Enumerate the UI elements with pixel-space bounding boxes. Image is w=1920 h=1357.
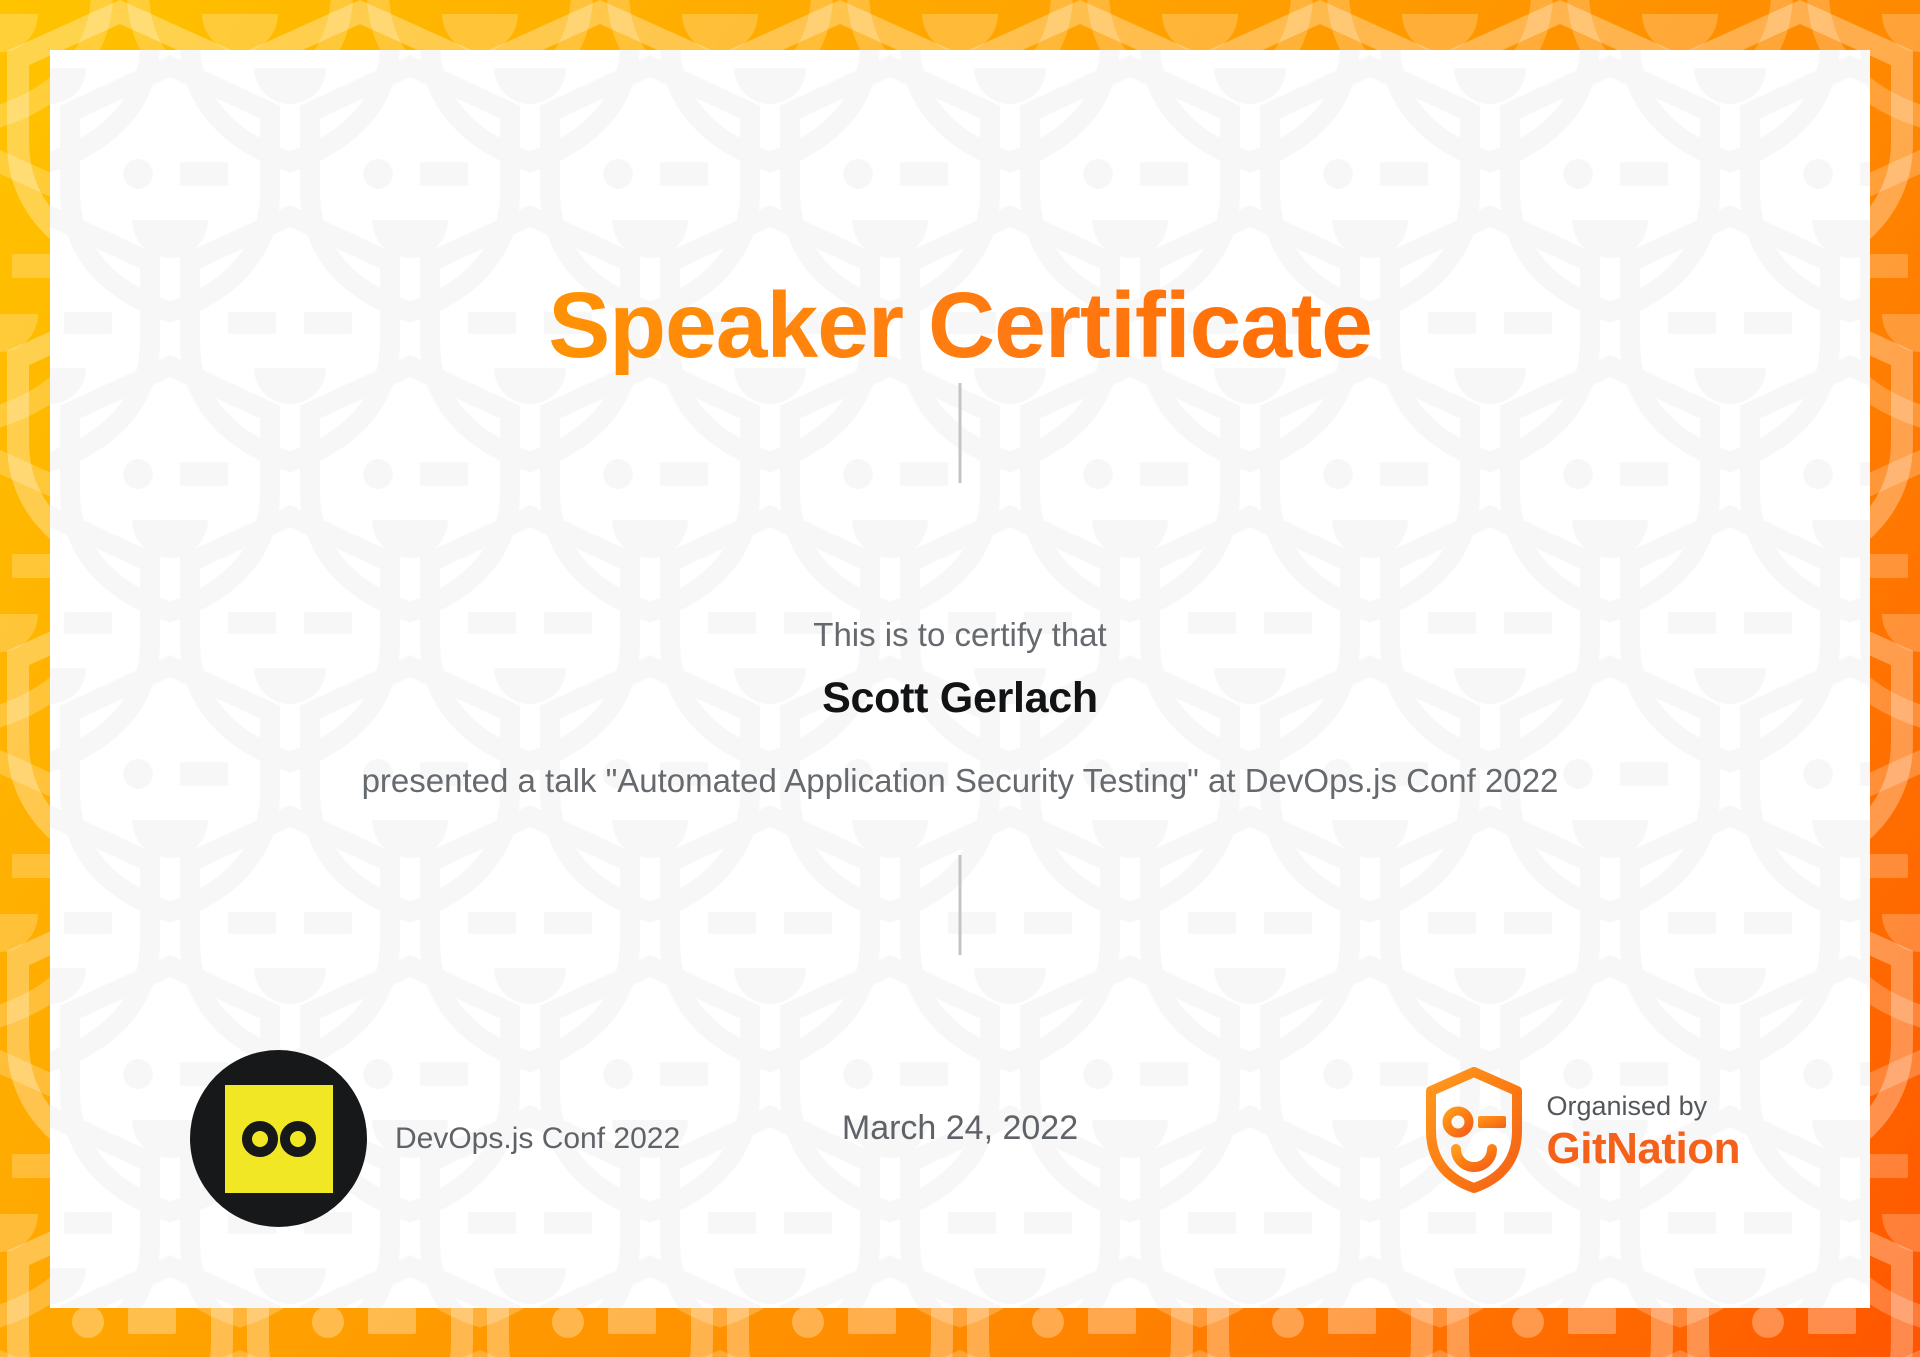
infinity-icon bbox=[225, 1085, 333, 1193]
certificate-footer: DevOps.js Conf 2022 March 24, 2022 bbox=[50, 1050, 1870, 1230]
certify-line: This is to certify that bbox=[50, 616, 1870, 654]
certificate-date: March 24, 2022 bbox=[842, 1109, 1078, 1148]
event-block: DevOps.js Conf 2022 bbox=[190, 1050, 680, 1227]
recipient-name: Scott Gerlach bbox=[50, 674, 1870, 723]
organised-by-label: Organised by bbox=[1547, 1091, 1740, 1122]
organiser-name: GitNation bbox=[1547, 1124, 1740, 1175]
talk-description: presented a talk "Automated Application … bbox=[90, 762, 1830, 800]
divider-top bbox=[959, 383, 962, 483]
organiser-block: Organised by GitNation bbox=[1425, 1067, 1740, 1198]
event-name: DevOps.js Conf 2022 bbox=[395, 1122, 680, 1156]
gitnation-shield-face-icon bbox=[1425, 1067, 1523, 1198]
certificate-card: Speaker Certificate This is to certify t… bbox=[50, 50, 1870, 1308]
divider-bottom bbox=[959, 855, 962, 955]
devopsjs-logo bbox=[190, 1050, 367, 1227]
page-title: Speaker Certificate bbox=[50, 277, 1870, 375]
certificate-page: Speaker Certificate This is to certify t… bbox=[0, 0, 1920, 1357]
